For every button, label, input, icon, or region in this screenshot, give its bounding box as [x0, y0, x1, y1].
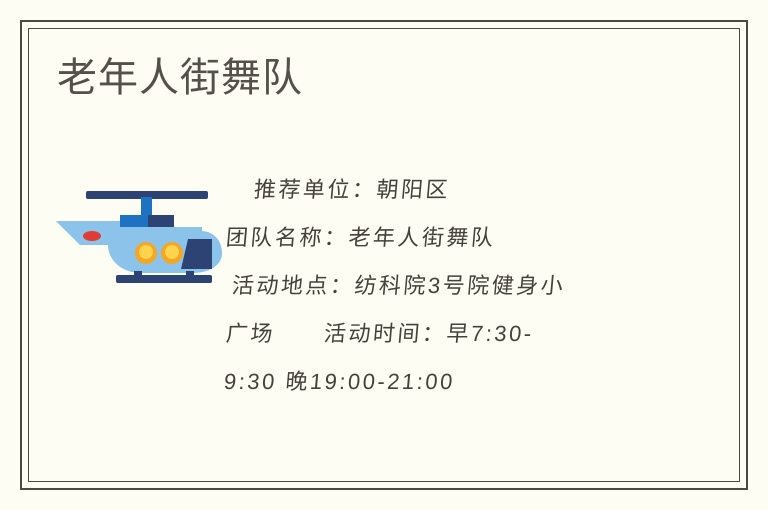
info-line-team-name: 团队名称：老年人街舞队	[222, 214, 646, 262]
cabin-window-2-glass	[165, 245, 179, 259]
fuselage-top	[108, 227, 202, 237]
info-line-time-cont: 9:30 晚19:00-21:00	[222, 358, 646, 406]
page-title: 老年人街舞队	[57, 55, 303, 101]
nose-light	[83, 231, 101, 241]
tail-fin	[56, 221, 84, 231]
info-line-location-cont-and-time: 广场 活动时间：早7:30-	[222, 310, 646, 358]
activity-info-block: 推荐单位：朝阳区 团队名称：老年人街舞队 活动地点：纺科院3号院健身小 广场 活…	[224, 166, 644, 406]
helicopter-graphic	[50, 153, 230, 283]
card-content: 老年人街舞队	[28, 28, 740, 482]
helicopter-icon	[50, 153, 230, 283]
cabin-window-1-glass	[139, 245, 153, 259]
activity-card: 老年人街舞队	[0, 0, 768, 510]
landing-skid	[116, 275, 212, 283]
info-line-recommending-unit: 推荐单位：朝阳区	[222, 166, 646, 214]
info-line-location: 活动地点：纺科院3号院健身小	[222, 262, 646, 310]
